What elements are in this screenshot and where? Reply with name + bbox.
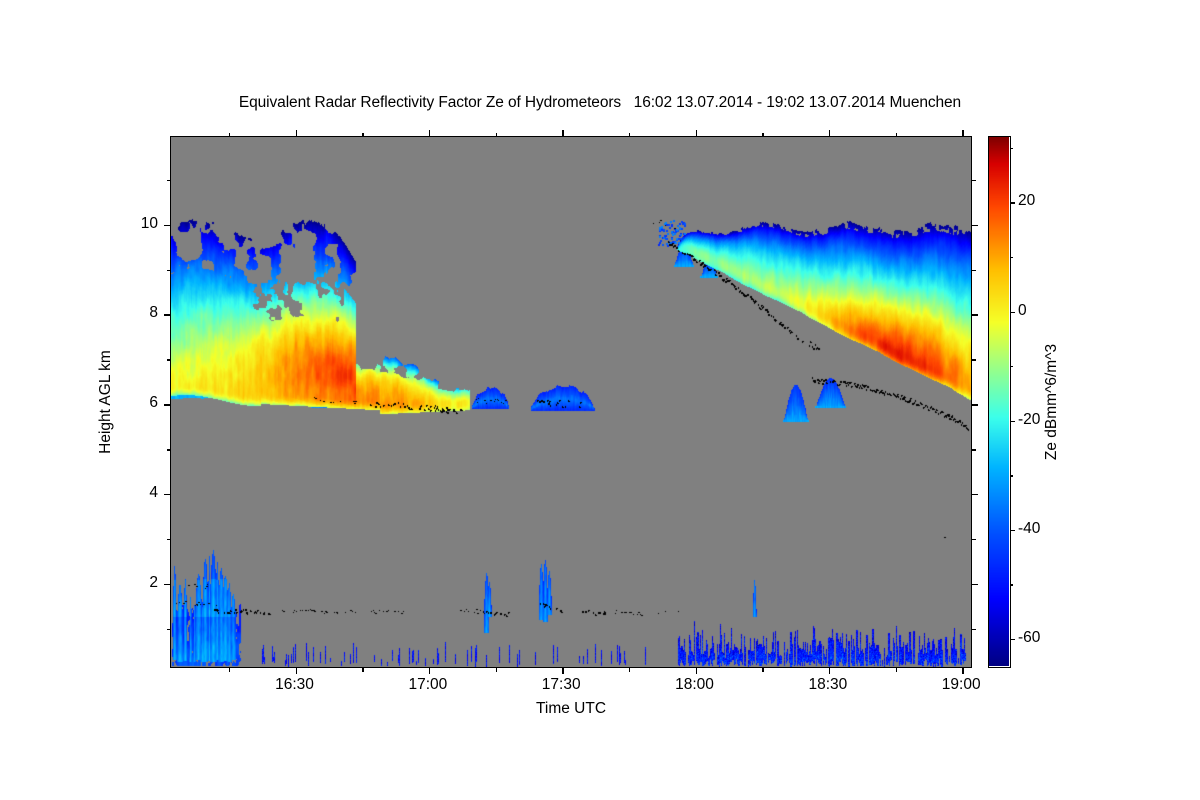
figure-title: Equivalent Radar Reflectivity Factor Ze …	[0, 94, 1200, 112]
axis-tick	[971, 494, 978, 495]
axis-tick	[562, 667, 563, 674]
axis-tick	[962, 667, 963, 674]
x-tick-label: 17:30	[542, 676, 581, 694]
axis-tick	[629, 667, 630, 672]
axis-tick	[167, 180, 172, 181]
axis-tick	[896, 133, 897, 138]
x-tick-label: 17:00	[408, 676, 447, 694]
colorbar-tick	[1010, 639, 1015, 640]
axis-tick	[971, 584, 978, 585]
axis-tick	[971, 225, 978, 226]
x-tick-label: 19:00	[942, 676, 981, 694]
colorbar-title: Ze dBmm^6/m^3	[1043, 344, 1061, 460]
y-axis-title: Height AGL km	[97, 350, 115, 454]
y-tick-label: 2	[149, 574, 158, 592]
axis-tick	[167, 359, 172, 360]
axis-tick	[362, 667, 363, 672]
axis-tick	[962, 130, 963, 137]
colorbar-tick	[1010, 421, 1015, 422]
axis-tick	[164, 314, 171, 315]
axis-tick	[296, 667, 297, 674]
axis-tick	[164, 225, 171, 226]
axis-tick	[971, 404, 978, 405]
radar-figure: Equivalent Radar Reflectivity Factor Ze …	[0, 0, 1200, 800]
axis-tick	[167, 629, 172, 630]
axis-tick	[496, 133, 497, 138]
axis-tick	[971, 359, 976, 360]
axis-tick	[971, 314, 978, 315]
axis-tick	[829, 130, 830, 137]
axis-tick	[696, 667, 697, 674]
axis-tick	[562, 130, 563, 137]
axis-tick	[762, 133, 763, 138]
axis-tick	[429, 667, 430, 674]
y-tick-label: 6	[149, 394, 158, 412]
axis-tick	[167, 539, 172, 540]
x-tick-label: 18:00	[675, 676, 714, 694]
axis-tick	[971, 449, 976, 450]
axis-tick	[167, 270, 172, 271]
colorbar-tick-label: 20	[1018, 192, 1035, 210]
axis-tick	[496, 667, 497, 672]
axis-tick	[164, 584, 171, 585]
axis-tick	[971, 539, 976, 540]
colorbar-tick	[1010, 312, 1015, 313]
axis-tick	[164, 494, 171, 495]
radar-heatmap-canvas	[171, 137, 971, 667]
colorbar-tick-minor	[1010, 148, 1013, 149]
axis-tick	[896, 667, 897, 672]
axis-tick	[762, 667, 763, 672]
axis-tick	[229, 667, 230, 672]
axis-tick	[164, 404, 171, 405]
axis-tick	[429, 130, 430, 137]
y-tick-label: 10	[141, 215, 158, 233]
x-axis-title: Time UTC	[536, 700, 606, 718]
axis-tick	[362, 133, 363, 138]
axis-tick	[971, 270, 976, 271]
colorbar-tick-minor	[1010, 475, 1013, 476]
axis-tick	[829, 667, 830, 674]
colorbar-tick-minor	[1010, 366, 1013, 367]
colorbar-tick-label: -60	[1018, 629, 1040, 647]
plot-area	[170, 136, 972, 668]
colorbar-tick-minor	[1010, 584, 1013, 585]
colorbar-tick-label: -40	[1018, 520, 1040, 538]
axis-tick	[629, 133, 630, 138]
axis-tick	[696, 130, 697, 137]
colorbar-tick-minor	[1010, 257, 1013, 258]
axis-tick	[229, 133, 230, 138]
y-tick-label: 8	[149, 304, 158, 322]
colorbar-tick-label: -20	[1018, 411, 1040, 429]
axis-tick	[296, 130, 297, 137]
colorbar-tick-label: 0	[1018, 302, 1027, 320]
y-tick-label: 4	[149, 484, 158, 502]
axis-tick	[971, 180, 976, 181]
axis-tick	[167, 449, 172, 450]
colorbar	[988, 136, 1011, 668]
colorbar-tick	[1010, 530, 1015, 531]
axis-tick	[971, 629, 976, 630]
colorbar-tick	[1010, 202, 1015, 203]
x-tick-label: 16:30	[275, 676, 314, 694]
x-tick-label: 18:30	[808, 676, 847, 694]
colorbar-gradient	[989, 137, 1009, 666]
